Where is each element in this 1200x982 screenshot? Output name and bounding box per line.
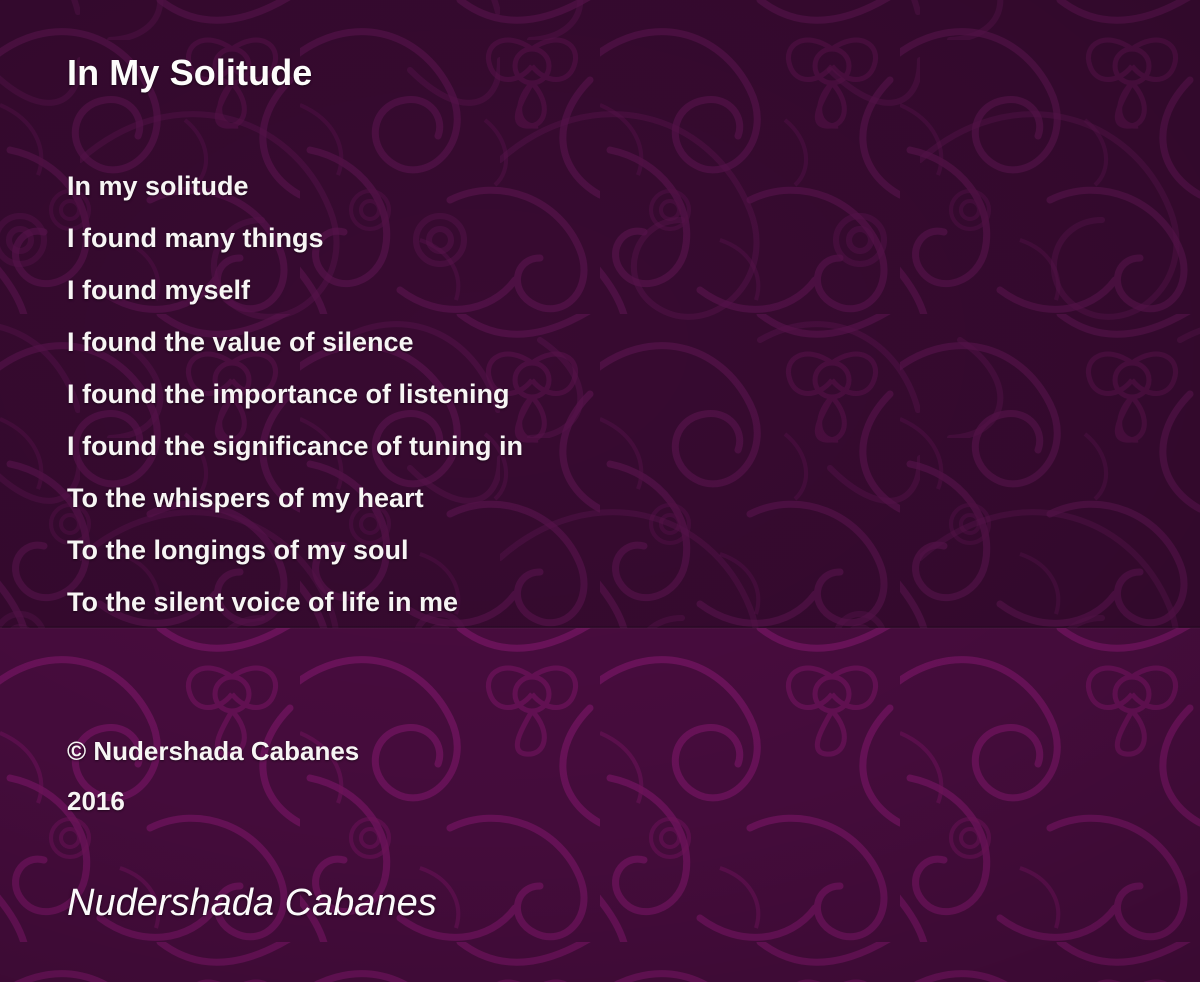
poem-line: To the silent voice of life in me <box>67 576 1117 628</box>
poem-line: To the longings of my soul <box>67 524 1117 576</box>
poem-text-block: In my solitude I found many things I fou… <box>67 160 1117 628</box>
page-title: In My Solitude <box>67 52 312 94</box>
poem-line: I found many things <box>67 212 1117 264</box>
copyright-year: 2016 <box>67 778 359 828</box>
author-signature: Nudershada Cabanes <box>67 882 437 925</box>
poem-line: To the whispers of my heart <box>67 472 1117 524</box>
copyright-notice: © Nudershada Cabanes <box>67 728 359 778</box>
copyright-block: © Nudershada Cabanes 2016 <box>67 728 359 828</box>
poem-line: I found the importance of listening <box>67 368 1117 420</box>
poem-image-card: In My Solitude In my solitude I found ma… <box>0 0 1200 982</box>
poem-content: In My Solitude In my solitude I found ma… <box>0 0 1200 982</box>
poem-line: I found the value of silence <box>67 316 1117 368</box>
poem-line: In my solitude <box>67 160 1117 212</box>
poem-line: I found the significance of tuning in <box>67 420 1117 472</box>
poem-line: I found myself <box>67 264 1117 316</box>
